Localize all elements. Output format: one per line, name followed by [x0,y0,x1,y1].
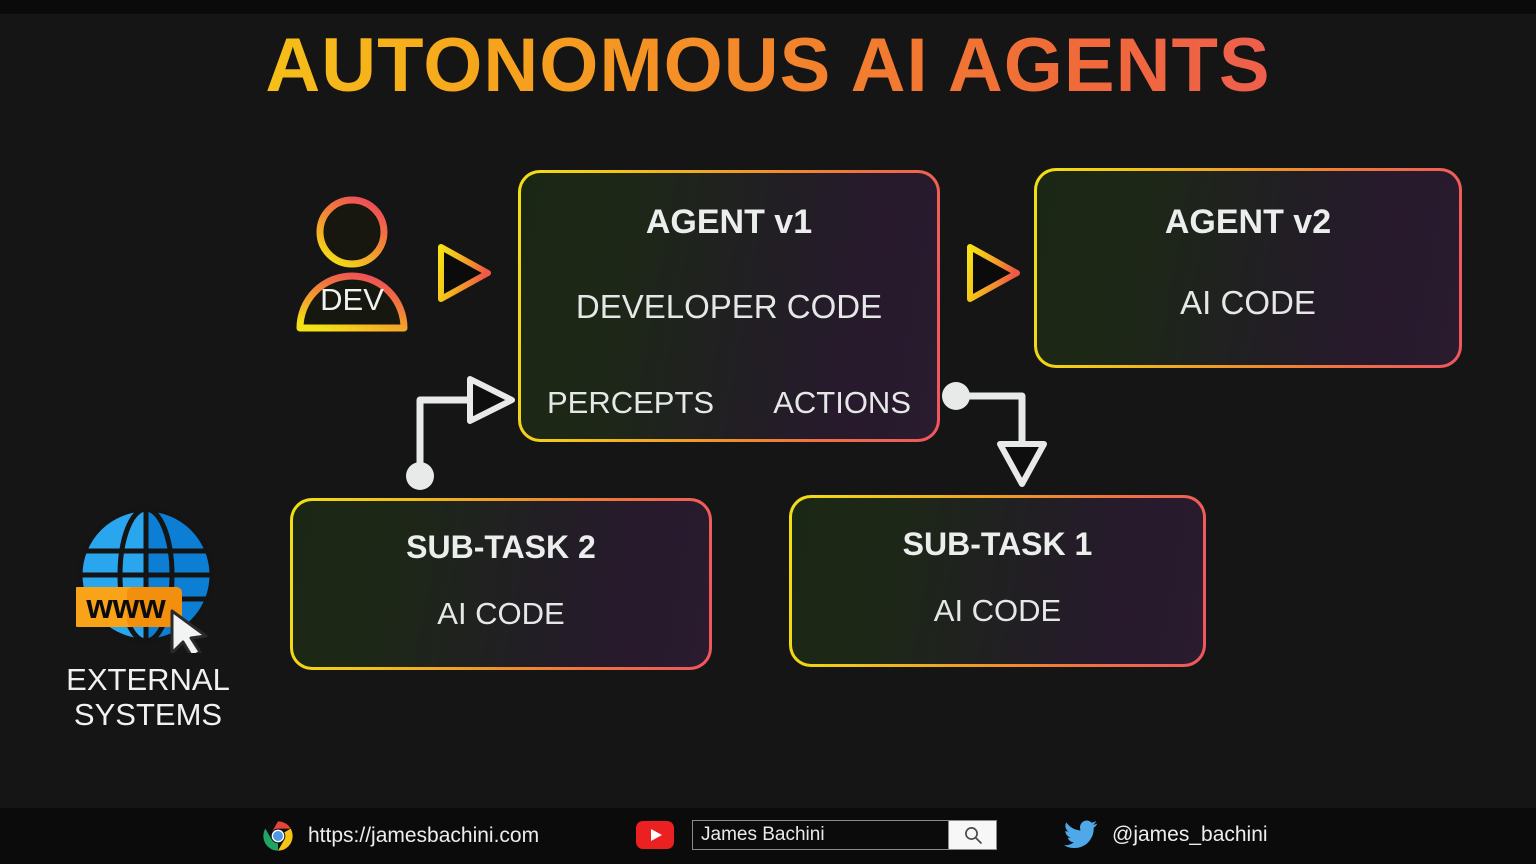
footer-twitter[interactable]: @james_bachini [1064,820,1268,850]
page-title: AUTONOMOUS AI AGENTS [0,24,1536,108]
card-sub-task-1-subtitle: AI CODE [792,593,1203,629]
percepts-label: PERCEPTS [547,385,714,421]
search-icon [963,825,983,845]
globe-www-icon: www [76,505,224,653]
search-button[interactable] [948,821,996,849]
arrow-dev-to-agent-v1-icon [432,240,496,306]
connector-actions-to-subtask1 [938,376,1048,488]
www-banner: www [76,587,182,627]
card-agent-v2-subtitle: AI CODE [1037,284,1459,322]
external-systems-label: EXTERNAL SYSTEMS [28,662,268,732]
card-sub-task-1[interactable]: SUB-TASK 1 AI CODE [789,495,1206,667]
dev-label: DEV [292,282,412,318]
top-band [0,0,1536,14]
twitter-icon [1064,820,1098,850]
card-agent-v2-body: AGENT v2 AI CODE [1037,171,1459,365]
website-url: https://jamesbachini.com [308,824,539,848]
card-agent-v1-title: AGENT v1 [521,203,937,242]
card-sub-task-1-title: SUB-TASK 1 [792,526,1203,563]
diagram-canvas: AUTONOMOUS AI AGENTS DEV AGENT v1 [0,0,1536,864]
youtube-search[interactable] [692,820,997,850]
actions-label: ACTIONS [773,385,911,421]
card-sub-task-2-title: SUB-TASK 2 [293,529,709,566]
card-sub-task-2-subtitle: AI CODE [293,596,709,632]
external-systems-line2: SYSTEMS [28,697,268,732]
card-agent-v2-title: AGENT v2 [1037,203,1459,242]
card-sub-task-2[interactable]: SUB-TASK 2 AI CODE [290,498,712,670]
search-input[interactable] [693,821,948,849]
arrow-agent-v1-to-agent-v2-icon [961,240,1025,306]
card-agent-v1[interactable]: AGENT v1 DEVELOPER CODE PERCEPTS ACTIONS [518,170,940,442]
card-agent-v1-body: AGENT v1 DEVELOPER CODE PERCEPTS ACTIONS [521,173,937,439]
card-sub-task-2-body: SUB-TASK 2 AI CODE [293,501,709,667]
youtube-icon [636,821,674,849]
card-agent-v1-footer: PERCEPTS ACTIONS [547,385,911,421]
card-sub-task-1-body: SUB-TASK 1 AI CODE [792,498,1203,664]
svg-text:www: www [85,588,166,626]
chrome-icon [262,820,294,852]
card-agent-v1-subtitle: DEVELOPER CODE [521,288,937,326]
footer-youtube[interactable] [636,820,997,850]
external-systems-line1: EXTERNAL [28,662,268,697]
card-agent-v2[interactable]: AGENT v2 AI CODE [1034,168,1462,368]
connector-subtask2-to-percepts [400,372,520,492]
footer-website[interactable]: https://jamesbachini.com [262,820,539,852]
twitter-handle: @james_bachini [1112,823,1268,847]
